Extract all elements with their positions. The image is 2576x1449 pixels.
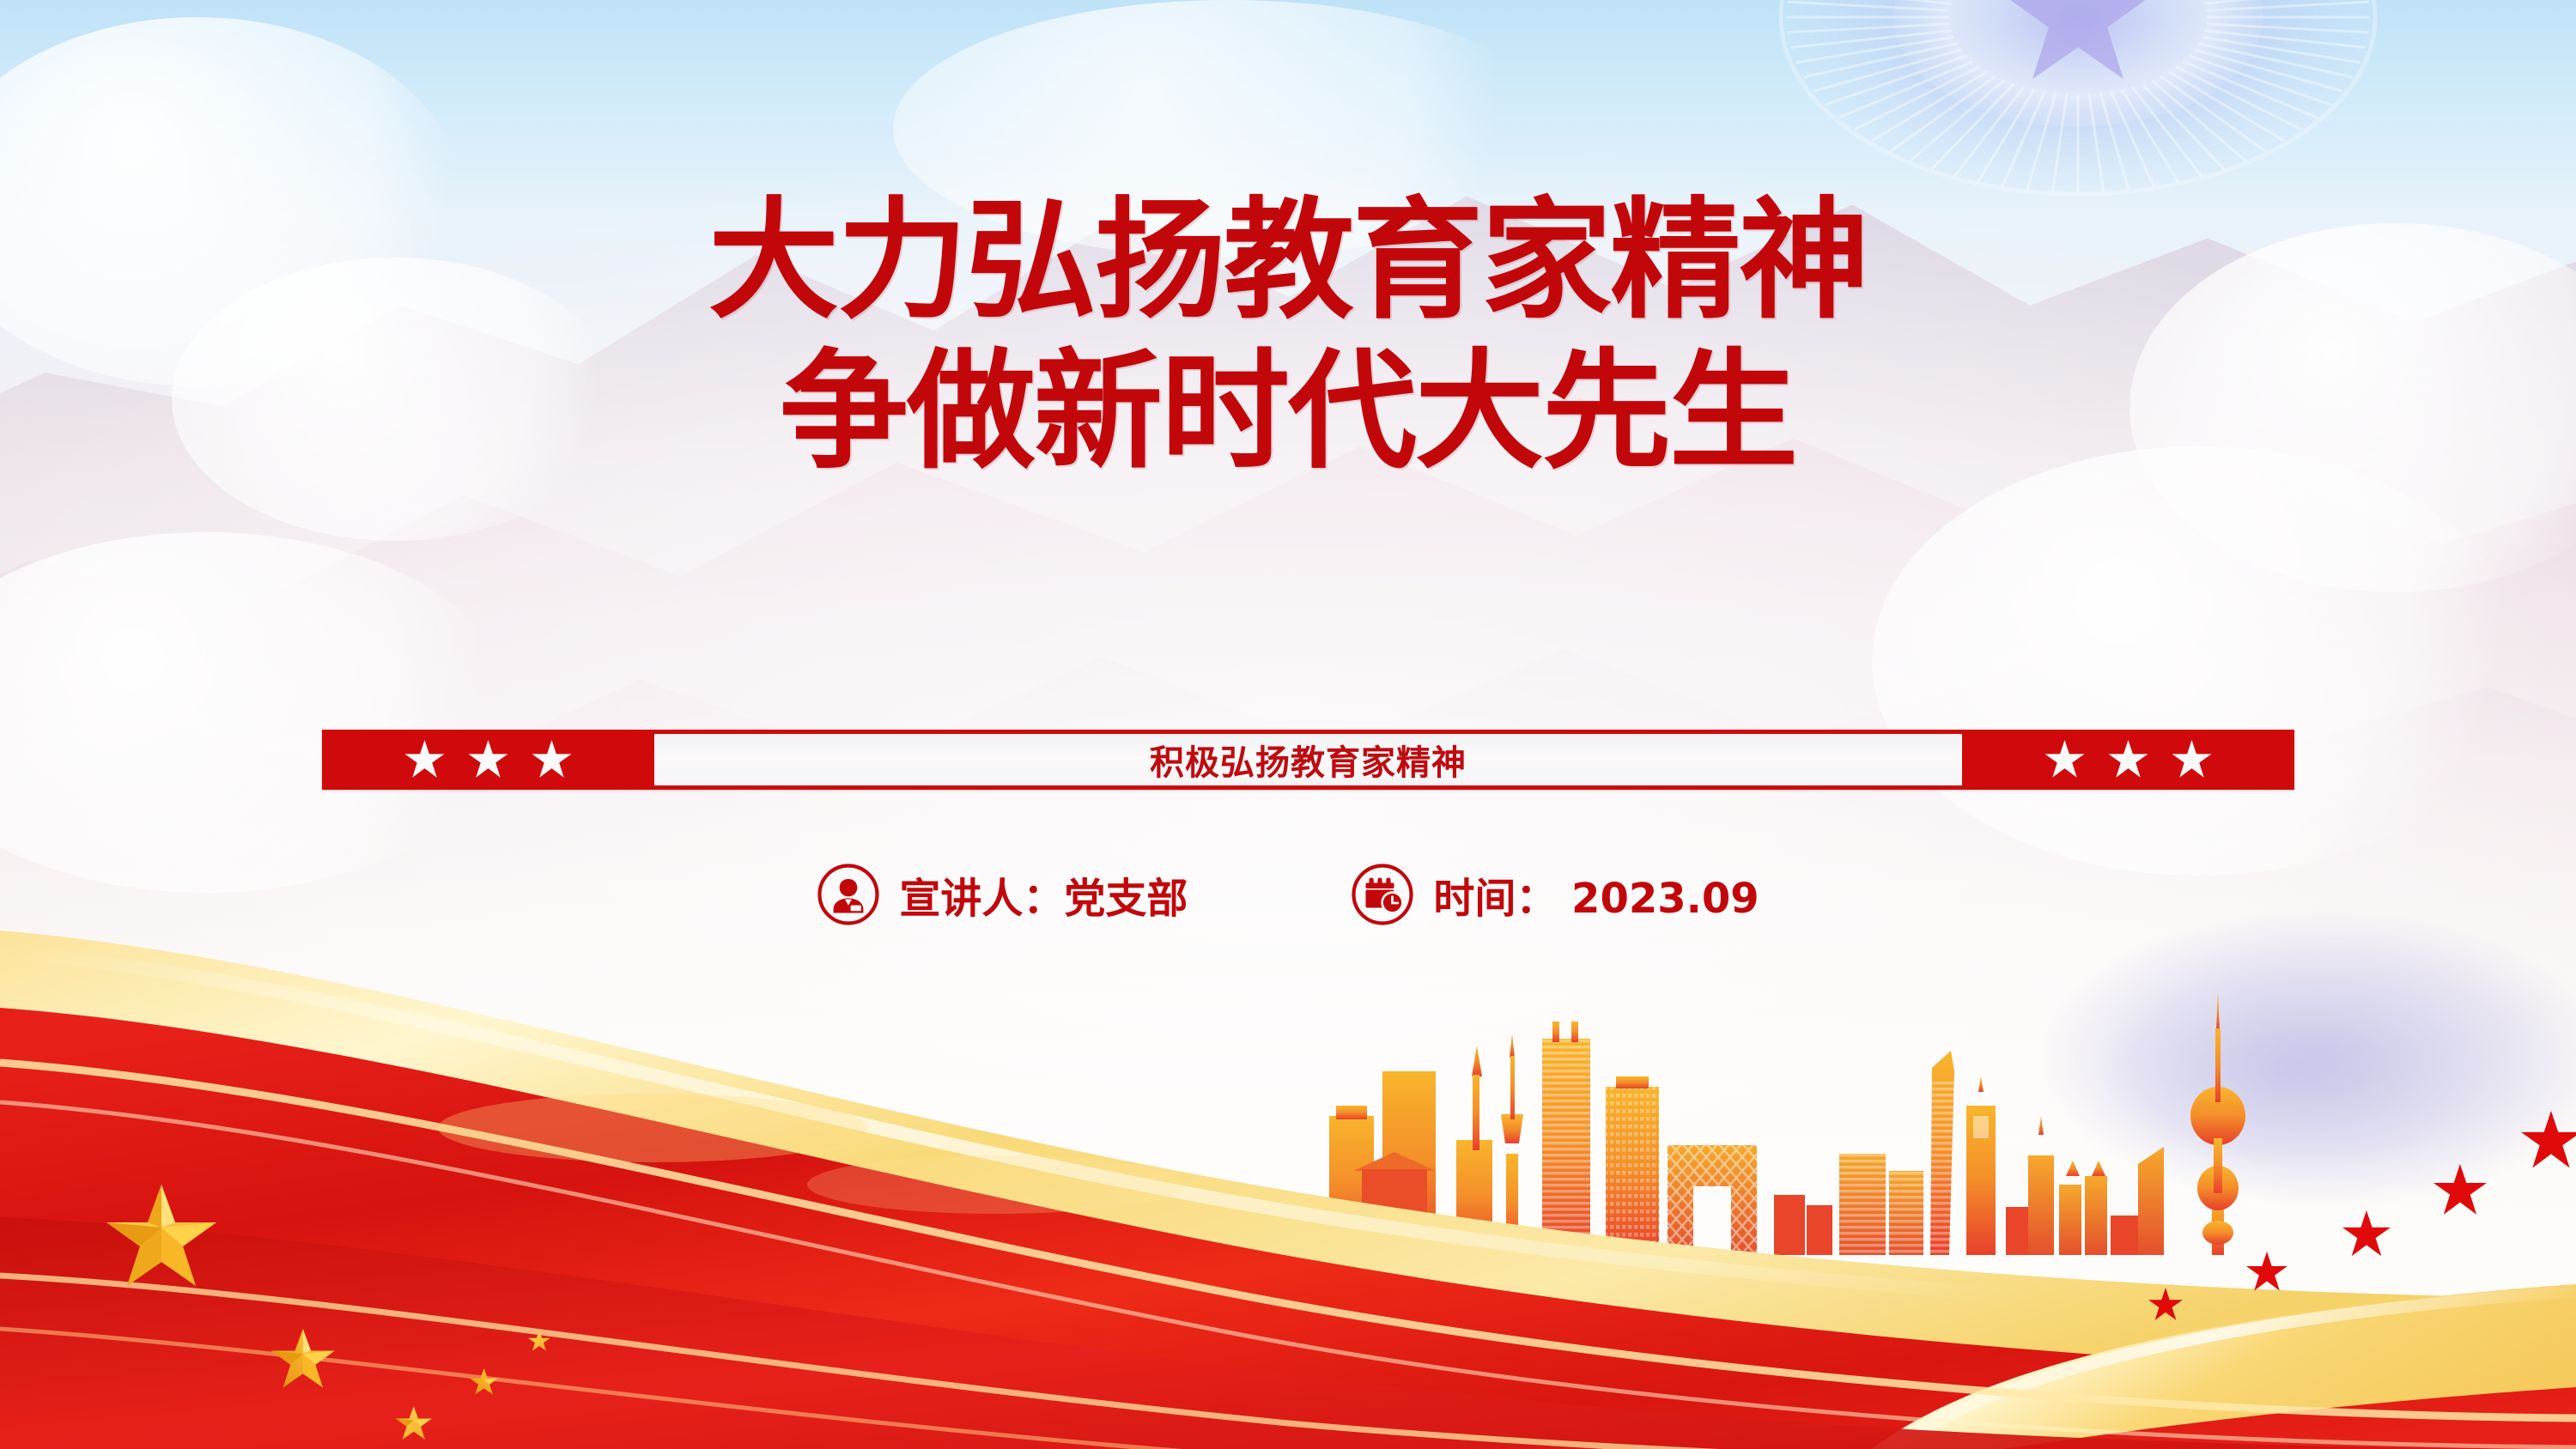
title-line-2: 争做新时代大先生 xyxy=(0,337,2576,488)
white-star-icon xyxy=(2109,740,2148,779)
subtitle-bar-stars-left xyxy=(322,740,654,779)
subtitle-text: 积极弘扬教育家精神 xyxy=(1150,735,1467,785)
title-line-1: 大力弘扬教育家精神 xyxy=(0,185,2576,337)
radial-sunburst-star-emblem xyxy=(1777,0,2379,197)
subtitle-bar: 积极弘扬教育家精神 xyxy=(322,730,2294,790)
white-star-icon xyxy=(469,740,508,779)
subtitle-bar-stars-right xyxy=(1962,740,2294,779)
cloud-puff xyxy=(1872,446,2524,876)
page-title: 大力弘扬教育家精神 争做新时代大先生 xyxy=(0,185,2576,488)
white-star-icon xyxy=(2172,740,2212,779)
white-star-icon xyxy=(405,740,445,779)
slide-canvas: 大力弘扬教育家精神 争做新时代大先生 积极弘扬教育家精神 xyxy=(0,0,2576,1449)
white-star-icon xyxy=(2045,740,2085,779)
subtitle-panel: 积极弘扬教育家精神 xyxy=(654,734,1962,785)
white-star-icon xyxy=(532,740,572,779)
bottom-ribbon-decoration xyxy=(0,848,2576,1449)
